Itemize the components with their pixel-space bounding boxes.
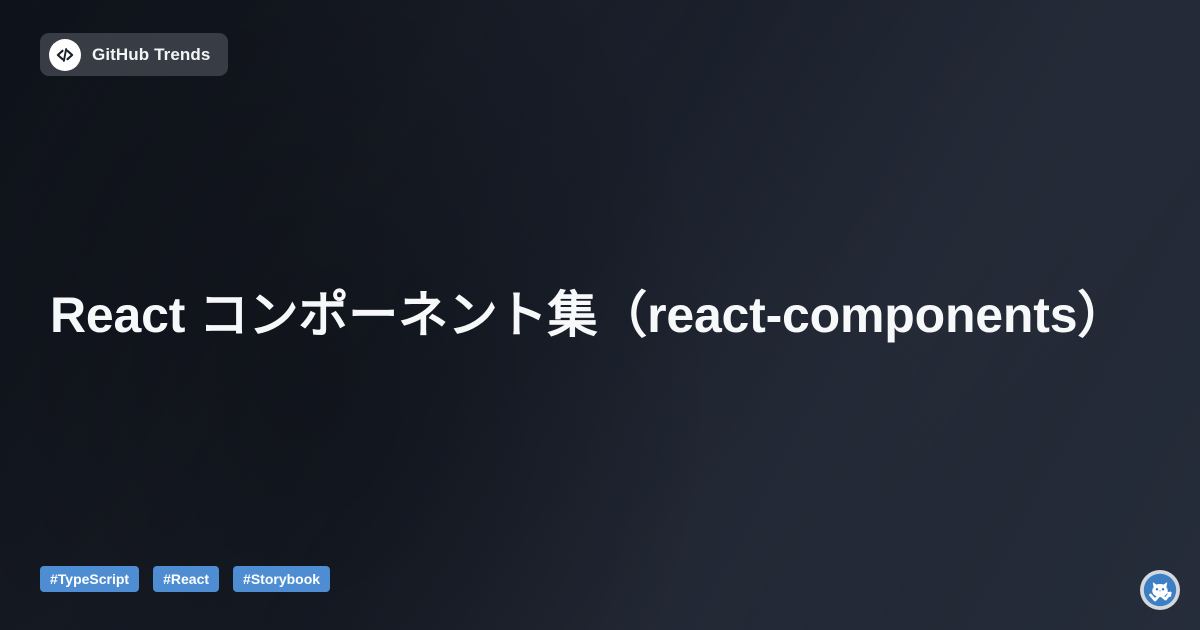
- title-block: React コンポーネント集（react-components）: [50, 0, 1110, 630]
- source-badge[interactable]: GitHub Trends: [40, 33, 228, 76]
- page-title: React コンポーネント集（react-components）: [50, 282, 1110, 348]
- og-card: GitHub Trends React コンポーネント集（react-compo…: [0, 0, 1200, 630]
- tag-chip[interactable]: #Storybook: [233, 566, 330, 592]
- source-badge-label: GitHub Trends: [92, 46, 210, 63]
- tag-chip[interactable]: #React: [153, 566, 219, 592]
- code-brackets-icon: [49, 39, 81, 71]
- tag-list: #TypeScript #React #Storybook: [40, 566, 330, 592]
- cat-trend-logo-icon: [1139, 569, 1181, 611]
- tag-chip[interactable]: #TypeScript: [40, 566, 139, 592]
